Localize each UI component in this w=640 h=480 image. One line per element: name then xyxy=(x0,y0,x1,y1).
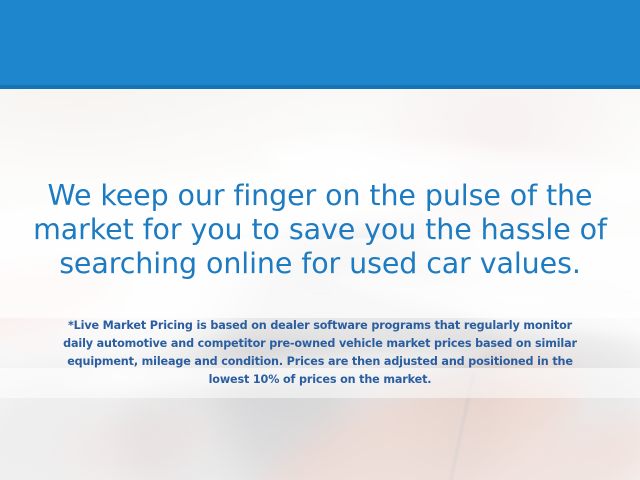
headline: We keep our finger on the pulse of the m… xyxy=(0,179,640,281)
headline-line-2: market for you to save you the hassle of xyxy=(0,213,640,247)
headline-line-3: searching online for used car values. xyxy=(0,247,640,281)
background-photo xyxy=(0,88,640,480)
disclaimer-line-2: daily automotive and competitor pre-owne… xyxy=(0,335,640,353)
disclaimer-line-3: equipment, mileage and condition. Prices… xyxy=(0,353,640,371)
live-market-pricing-banner-graphic: Live Market Pricing* We keep our finger … xyxy=(0,0,640,480)
headline-line-1: We keep our finger on the pulse of the xyxy=(0,179,640,213)
header-banner-underline xyxy=(0,85,640,89)
disclaimer-line-1: *Live Market Pricing is based on dealer … xyxy=(0,317,640,335)
disclaimer-line-4: lowest 10% of prices on the market. xyxy=(0,371,640,389)
header-banner xyxy=(0,0,640,85)
disclaimer-text: *Live Market Pricing is based on dealer … xyxy=(0,317,640,389)
